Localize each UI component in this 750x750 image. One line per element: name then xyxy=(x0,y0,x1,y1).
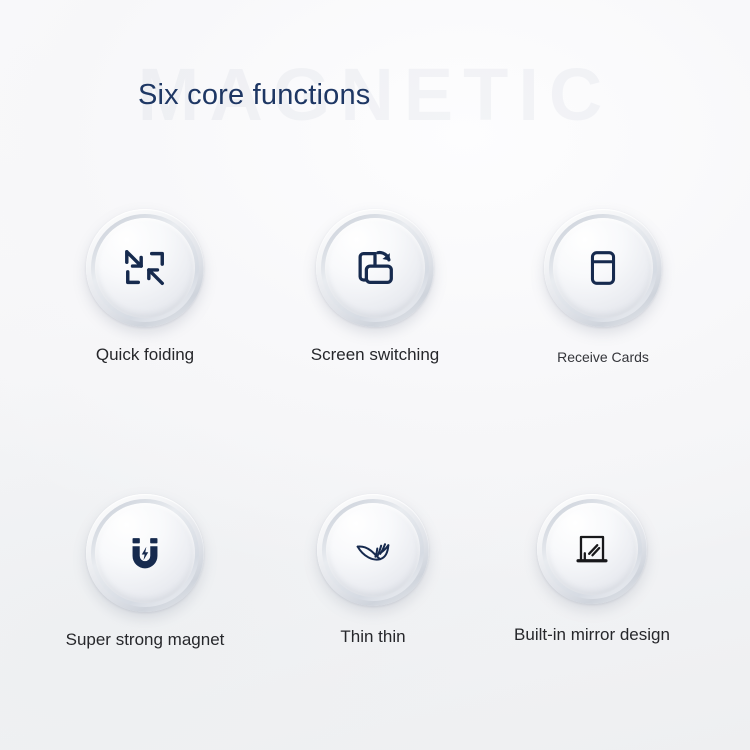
magnet-icon xyxy=(86,494,204,612)
feature-icon-button[interactable] xyxy=(317,494,429,606)
feather-icon xyxy=(317,494,429,606)
feature-item-super-strong-magnet[interactable]: Super strong magnet xyxy=(30,494,260,650)
mirror-icon xyxy=(537,494,647,604)
feature-label: Receive Cards xyxy=(488,349,718,365)
card-slot-icon xyxy=(544,209,662,327)
feature-grid: Quick foiding Screen switching xyxy=(0,0,750,750)
feature-item-screen-switching[interactable]: Screen switching xyxy=(260,209,490,365)
feature-item-thin-thin[interactable]: Thin thin xyxy=(258,494,488,647)
feature-icon-button[interactable] xyxy=(86,209,204,327)
feature-icon-button[interactable] xyxy=(316,209,434,327)
feature-label: Thin thin xyxy=(258,627,488,647)
feature-icon-button[interactable] xyxy=(86,494,204,612)
feature-item-quick-folding[interactable]: Quick foiding xyxy=(30,209,260,365)
screen-rotate-icon xyxy=(316,209,434,327)
feature-icon-button[interactable] xyxy=(537,494,647,604)
feature-item-receive-cards[interactable]: Receive Cards xyxy=(488,209,718,365)
collapse-arrows-icon xyxy=(86,209,204,327)
feature-label: Super strong magnet xyxy=(30,630,260,650)
feature-label: Quick foiding xyxy=(30,345,260,365)
feature-item-built-in-mirror-design[interactable]: Built-in mirror design xyxy=(477,494,707,645)
feature-icon-button[interactable] xyxy=(544,209,662,327)
feature-label: Screen switching xyxy=(260,345,490,365)
feature-label: Built-in mirror design xyxy=(477,625,707,645)
